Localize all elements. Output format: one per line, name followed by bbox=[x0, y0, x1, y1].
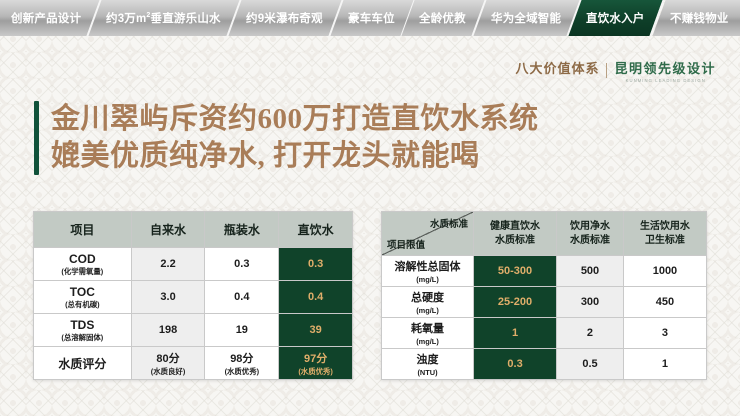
row-label-main: 水质评分 bbox=[58, 357, 106, 371]
water-comparison-table: 项目 自来水 瓶装水 直饮水 COD (化学需氧量) 2.2 0.3 0.3 T… bbox=[33, 211, 353, 380]
table-left-body: COD (化学需氧量) 2.2 0.3 0.3 TOC (总有机碳) 3.0 0… bbox=[34, 248, 353, 380]
cell-hardness-healthy: 25-200 bbox=[474, 287, 557, 318]
row-label-main: TDS bbox=[70, 318, 94, 332]
brand-design-block: 昆明领先级设计 KUNMING LEADING DESIGN bbox=[614, 62, 716, 83]
table-right: 水质标准 项目限值 健康直饮水 水质标准 饮用净水 水质标准 生活饮用水 卫生标… bbox=[381, 211, 707, 380]
table-row: TOC (总有机碳) 3.0 0.4 0.4 bbox=[34, 281, 353, 314]
table-row: 溶解性总固体 (mg/L) 50-300 500 1000 bbox=[382, 256, 707, 287]
table-right-head: 水质标准 项目限值 健康直饮水 水质标准 饮用净水 水质标准 生活饮用水 卫生标… bbox=[382, 212, 707, 256]
row-label-main: 溶解性总固体 bbox=[395, 261, 461, 273]
col-header-direct-drinking-water: 直饮水 bbox=[279, 212, 353, 248]
row-label-main: 浊度 bbox=[417, 354, 439, 366]
col-header-domestic-standard: 生活饮用水 卫生标准 bbox=[623, 212, 706, 256]
nav-item-6-active[interactable]: 直饮水入户 bbox=[569, 0, 666, 36]
row-label-sub: (总有机碳) bbox=[34, 300, 131, 309]
cell-tds-tap: 198 bbox=[131, 314, 205, 347]
nav-item-5[interactable]: 华为全域智能 bbox=[473, 0, 581, 36]
cell-oxygen-healthy: 1 bbox=[474, 318, 557, 349]
cell-value: 80分 bbox=[156, 353, 179, 365]
cell-cod-direct: 0.3 bbox=[279, 248, 353, 281]
table-row: COD (化学需氧量) 2.2 0.3 0.3 bbox=[34, 248, 353, 281]
cell-value-sub: (水质优秀) bbox=[279, 367, 352, 376]
col-header-purified-standard: 饮用净水 水质标准 bbox=[557, 212, 624, 256]
col-header-line1: 健康直饮水 bbox=[490, 221, 540, 232]
table-row-header: 项目 自来水 瓶装水 直饮水 bbox=[34, 212, 353, 248]
table-right-body: 溶解性总固体 (mg/L) 50-300 500 1000 总硬度 (mg/L)… bbox=[382, 256, 707, 380]
col-header-line2: 卫生标准 bbox=[645, 235, 685, 246]
table-row: 耗氧量 (mg/L) 1 2 3 bbox=[382, 318, 707, 349]
cell-turbidity-purified: 0.5 bbox=[557, 349, 624, 380]
row-label-main: COD bbox=[69, 252, 96, 266]
nav-item-7[interactable]: 不赚钱物业 bbox=[652, 0, 740, 36]
cell-value: 98分 bbox=[230, 353, 253, 365]
cell-score-bottle: 98分 (水质优秀) bbox=[205, 347, 279, 380]
row-label-unit: (mg/L) bbox=[382, 306, 473, 315]
nav-item-2[interactable]: 约9米瀑布奇观 bbox=[228, 0, 343, 36]
row-label-oxygen-consumption: 耗氧量 (mg/L) bbox=[382, 318, 474, 349]
cell-value-sub: (水质优秀) bbox=[205, 367, 278, 376]
col-header-line2: 水质标准 bbox=[570, 235, 610, 246]
row-label-unit: (mg/L) bbox=[382, 275, 473, 284]
row-label-score: 水质评分 bbox=[34, 347, 132, 380]
row-label-main: 总硬度 bbox=[411, 292, 444, 304]
nav-item-label: 全龄优教 bbox=[420, 10, 467, 26]
cell-toc-tap: 3.0 bbox=[131, 281, 205, 314]
nav-item-label: 豪车车位 bbox=[348, 10, 395, 26]
cell-tds-bottle: 19 bbox=[205, 314, 279, 347]
headline-line-1: 金川翠屿斥资约600万打造直饮水系统 bbox=[51, 101, 539, 138]
row-label-main: 耗氧量 bbox=[411, 323, 444, 335]
cell-hardness-domestic: 450 bbox=[623, 287, 706, 318]
table-row: 浊度 (NTU) 0.3 0.5 1 bbox=[382, 349, 707, 380]
brand-value-system-label: 八大价值体系 bbox=[515, 62, 599, 76]
row-label-cod: COD (化学需氧量) bbox=[34, 248, 132, 281]
nav-item-label: 直饮水入户 bbox=[587, 10, 646, 26]
cell-toc-bottle: 0.4 bbox=[205, 281, 279, 314]
corner-header-diagonal: 水质标准 项目限值 bbox=[382, 212, 474, 256]
nav-item-label: 约3万m2垂直游乐山水 bbox=[107, 10, 222, 26]
headline-block: 金川翠屿斥资约600万打造直饮水系统 媲美优质纯净水, 打开龙头就能喝 bbox=[34, 101, 539, 175]
cell-hardness-purified: 300 bbox=[557, 287, 624, 318]
nav-item-label: 不赚钱物业 bbox=[670, 10, 729, 26]
cell-cod-bottle: 0.3 bbox=[205, 248, 279, 281]
cell-turbidity-domestic: 1 bbox=[623, 349, 706, 380]
col-header-line2: 水质标准 bbox=[495, 235, 535, 246]
top-nav-ribbon: 创新产品设计 约3万m2垂直游乐山水 约9米瀑布奇观 豪车车位 全龄优教 华为全… bbox=[0, 0, 740, 36]
col-header-item: 项目 bbox=[34, 212, 132, 248]
row-label-tds: TDS (总溶解固体) bbox=[34, 314, 132, 347]
cell-tds-healthy: 50-300 bbox=[474, 256, 557, 287]
cell-tds-domestic: 1000 bbox=[623, 256, 706, 287]
table-left: 项目 自来水 瓶装水 直饮水 COD (化学需氧量) 2.2 0.3 0.3 T… bbox=[33, 211, 353, 380]
row-label-main: TOC bbox=[70, 285, 95, 299]
col-header-healthy-direct-standard: 健康直饮水 水质标准 bbox=[474, 212, 557, 256]
cell-value: 97分 bbox=[304, 353, 327, 365]
row-label-sub: (化学需氧量) bbox=[34, 267, 131, 276]
nav-item-4[interactable]: 全龄优教 bbox=[402, 0, 487, 36]
table-row: 总硬度 (mg/L) 25-200 300 450 bbox=[382, 287, 707, 318]
cell-tds-purified: 500 bbox=[557, 256, 624, 287]
row-label-sub: (总溶解固体) bbox=[34, 333, 131, 342]
brand-design-en: KUNMING LEADING DESIGN bbox=[625, 78, 705, 83]
table-row: TDS (总溶解固体) 198 19 39 bbox=[34, 314, 353, 347]
headline-text-wrap: 金川翠屿斥资约600万打造直饮水系统 媲美优质纯净水, 打开龙头就能喝 bbox=[51, 101, 539, 175]
cell-value-sub: (水质良好) bbox=[132, 367, 205, 376]
col-header-bottled-water: 瓶装水 bbox=[205, 212, 279, 248]
headline-accent-bar bbox=[34, 101, 39, 175]
corner-header-bottom-label: 项目限值 bbox=[387, 237, 425, 251]
brand-divider bbox=[606, 63, 607, 78]
row-label-toc: TOC (总有机碳) bbox=[34, 281, 132, 314]
headline-line-2: 媲美优质纯净水, 打开龙头就能喝 bbox=[51, 138, 539, 175]
cell-score-direct: 97分 (水质优秀) bbox=[279, 347, 353, 380]
row-label-hardness: 总硬度 (mg/L) bbox=[382, 287, 474, 318]
row-label-tds-dissolved: 溶解性总固体 (mg/L) bbox=[382, 256, 474, 287]
table-row-header: 水质标准 项目限值 健康直饮水 水质标准 饮用净水 水质标准 生活饮用水 卫生标… bbox=[382, 212, 707, 256]
cell-oxygen-domestic: 3 bbox=[623, 318, 706, 349]
row-label-turbidity: 浊度 (NTU) bbox=[382, 349, 474, 380]
cell-toc-direct: 0.4 bbox=[279, 281, 353, 314]
table-row: 水质评分 80分 (水质良好) 98分 (水质优秀) 97分 (水质优秀) bbox=[34, 347, 353, 380]
cell-oxygen-purified: 2 bbox=[557, 318, 624, 349]
col-header-line1: 饮用净水 bbox=[570, 221, 610, 232]
nav-item-label: 创新产品设计 bbox=[11, 10, 81, 26]
water-standards-table: 水质标准 项目限值 健康直饮水 水质标准 饮用净水 水质标准 生活饮用水 卫生标… bbox=[381, 211, 707, 380]
col-header-tap-water: 自来水 bbox=[131, 212, 205, 248]
col-header-line1: 生活饮用水 bbox=[640, 221, 690, 232]
cell-tds-direct: 39 bbox=[279, 314, 353, 347]
row-label-unit: (NTU) bbox=[382, 368, 473, 377]
cell-cod-tap: 2.2 bbox=[131, 248, 205, 281]
row-label-unit: (mg/L) bbox=[382, 337, 473, 346]
nav-item-0[interactable]: 创新产品设计 bbox=[0, 0, 102, 36]
brand-design-cn: 昆明领先级设计 bbox=[614, 62, 716, 76]
corner-header-top-label: 水质标准 bbox=[430, 216, 468, 230]
nav-item-label: 华为全域智能 bbox=[492, 10, 562, 26]
cell-turbidity-healthy: 0.3 bbox=[474, 349, 557, 380]
table-left-head: 项目 自来水 瓶装水 直饮水 bbox=[34, 212, 353, 248]
brand-lockup: 八大价值体系 昆明领先级设计 KUNMING LEADING DESIGN bbox=[515, 62, 716, 83]
cell-score-tap: 80分 (水质良好) bbox=[131, 347, 205, 380]
nav-item-1[interactable]: 约3万m2垂直游乐山水 bbox=[89, 0, 242, 36]
nav-item-label: 约9米瀑布奇观 bbox=[246, 10, 323, 26]
